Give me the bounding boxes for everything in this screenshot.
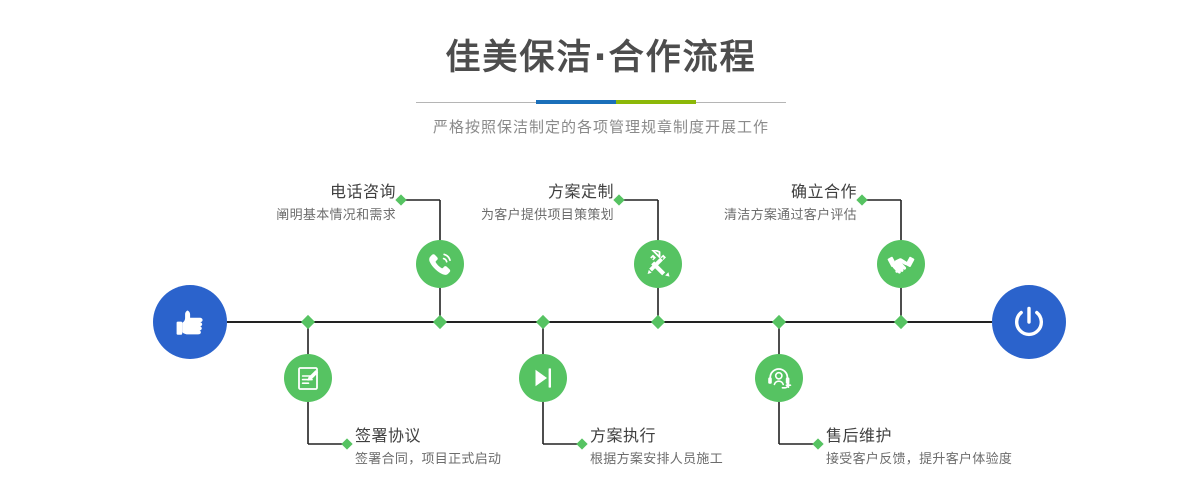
step-label-6: 售后维护 接受客户反馈，提升客户体验度	[826, 426, 1106, 470]
step-label-4: 方案执行 根据方案安排人员施工	[590, 426, 850, 470]
document-edit-icon	[294, 364, 322, 392]
step-desc-2: 签署合同，项目正式启动	[355, 446, 615, 470]
process-flow-diagram: 电话咨询 阐明基本情况和需求 方案定制 为客户提供项目策策划 确立合作 清洁方案…	[0, 0, 1202, 502]
step-title-1: 电话咨询	[146, 182, 396, 202]
step-node-1[interactable]	[416, 240, 464, 288]
handshake-icon	[886, 249, 916, 279]
timeline-marker-3	[536, 315, 550, 329]
step-label-1: 电话咨询 阐明基本情况和需求	[146, 182, 396, 226]
timeline-marker-4	[651, 315, 665, 329]
pointing-hand-icon	[170, 302, 210, 342]
power-icon	[1008, 301, 1050, 343]
step-title-3: 方案定制	[364, 182, 614, 202]
flow-end-node[interactable]	[992, 285, 1066, 359]
step-title-2: 签署协议	[355, 426, 615, 446]
step-node-5[interactable]	[877, 240, 925, 288]
timeline-marker-5	[772, 315, 786, 329]
phone-call-icon	[426, 250, 454, 278]
timeline-marker-6	[894, 315, 908, 329]
step-label-3: 方案定制 为客户提供项目策策划	[364, 182, 614, 226]
step-node-3[interactable]	[634, 240, 682, 288]
step-desc-5: 清洁方案通过客户评估	[607, 202, 857, 226]
pencil-ruler-icon	[644, 250, 672, 278]
label-marker-down-1	[341, 438, 352, 449]
step-desc-3: 为客户提供项目策策划	[364, 202, 614, 226]
step-node-6[interactable]	[755, 354, 803, 402]
step-desc-6: 接受客户反馈，提升客户体验度	[826, 446, 1106, 470]
step-label-2: 签署协议 签署合同，项目正式启动	[355, 426, 615, 470]
label-marker-up-3	[856, 194, 867, 205]
step-label-5: 确立合作 清洁方案通过客户评估	[607, 182, 857, 226]
step-node-2[interactable]	[284, 354, 332, 402]
customer-service-add-icon	[765, 364, 793, 392]
step-title-4: 方案执行	[590, 426, 850, 446]
flow-start-node[interactable]	[153, 285, 227, 359]
play-skip-icon	[529, 364, 557, 392]
timeline-marker-1	[301, 315, 315, 329]
step-title-6: 售后维护	[826, 426, 1106, 446]
step-desc-1: 阐明基本情况和需求	[146, 202, 396, 226]
step-title-5: 确立合作	[607, 182, 857, 202]
step-node-4[interactable]	[519, 354, 567, 402]
timeline-marker-2	[433, 315, 447, 329]
step-desc-4: 根据方案安排人员施工	[590, 446, 850, 470]
